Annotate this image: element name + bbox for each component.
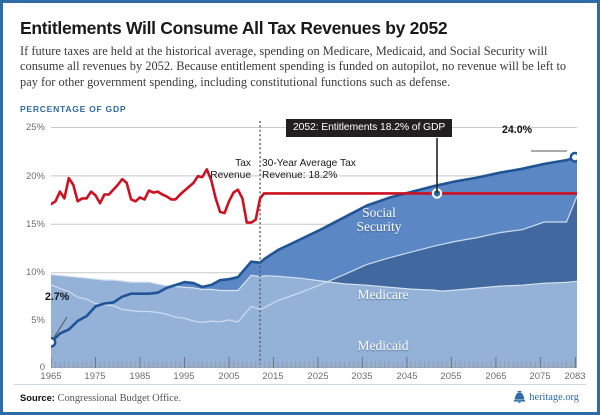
y-tick-5: 5% [11,315,45,326]
chart-page: Entitlements Will Consume All Tax Revenu… [0,0,600,415]
callout-2052: 2052: Entitlements 18.2% of GDP [286,119,452,137]
page-title: Entitlements Will Consume All Tax Revenu… [20,18,580,39]
band-label-medicaid-text: Medicaid [358,338,409,353]
marker-end-2083 [571,153,577,161]
band-label-ss-line1: Social [362,205,396,220]
tax-revenue-label-line2: Revenue [210,170,251,181]
description-text: If future taxes are held at the historic… [20,44,577,90]
tax-revenue-label-line1: Tax [235,158,251,169]
x-tick-2035: 2035 [340,371,384,382]
avg-tax-line1: 30-Year Average Tax [262,158,356,169]
y-tick-15: 15% [11,219,45,230]
x-tick-1975: 1975 [73,371,117,382]
area-medicaid [51,275,577,369]
band-label-ss-line2: Security [357,219,402,234]
x-tick-2015: 2015 [251,371,295,382]
source-note: Source: Congressional Budget Office. [20,392,181,404]
y-tick-25: 25% [11,122,45,133]
x-tick-1995: 1995 [162,371,206,382]
end-point-label: 24.0% [502,124,532,136]
x-tick-1985: 1985 [118,371,162,382]
x-tick-2065: 2065 [474,371,518,382]
band-label-social-security: Social Security [339,206,419,234]
x-tick-1965: 1965 [29,371,73,382]
band-label-medicare-text: Medicare [358,287,409,302]
y-tick-20: 20% [11,171,45,182]
x-tick-2045: 2045 [385,371,429,382]
average-tax-revenue-annotation: 30-Year Average Tax Revenue: 18.2% [262,158,382,183]
chart-canvas: Entitlements Will Consume All Tax Revenu… [3,3,597,412]
brand-label: heritage.org [529,392,579,403]
avg-tax-line2: Revenue: 18.2% [262,170,337,181]
x-tick-2055: 2055 [429,371,473,382]
x-tick-2083: 2083 [553,371,597,382]
start-point-label: 2.7% [45,291,69,303]
y-axis-title: PERCENTAGE OF GDP [20,104,126,114]
source-label: Source: [20,392,55,403]
band-label-medicare: Medicare [333,288,433,302]
liberty-bell-icon [514,391,525,403]
x-tick-2005: 2005 [207,371,251,382]
source-text: Congressional Budget Office. [58,393,182,404]
y-tick-10: 10% [11,267,45,278]
footer-divider [14,384,586,385]
marker-start-1965 [51,338,55,346]
brand-heritage[interactable]: heritage.org [514,391,579,403]
x-tick-2025: 2025 [296,371,340,382]
tax-revenue-annotation: Tax Revenue [181,158,251,183]
band-label-medicaid: Medicaid [333,339,433,353]
